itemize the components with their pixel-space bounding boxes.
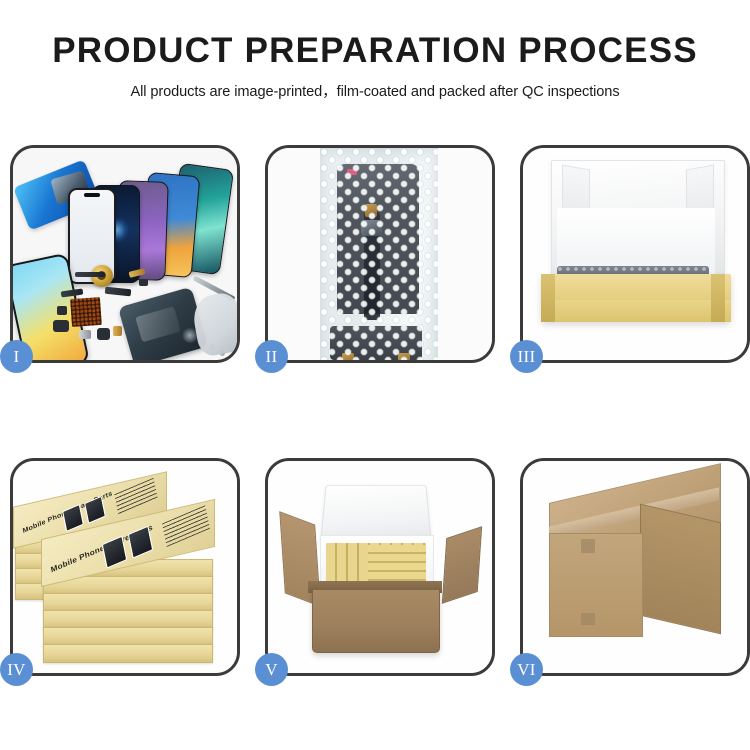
step-badge-3: III [510, 340, 543, 373]
process-step-grid: I II [10, 145, 740, 676]
step-panel-2[interactable]: II [265, 145, 495, 363]
header: PRODUCT PREPARATION PROCESS All products… [0, 0, 750, 101]
step-image-3 [523, 148, 747, 360]
step-image-1 [13, 148, 237, 360]
speaker-part [53, 320, 69, 332]
step-badge-4: IV [0, 653, 33, 686]
copper-mesh-part-icon [70, 297, 102, 327]
box-window-front-a [102, 536, 128, 569]
small-chip-part [139, 279, 148, 286]
phone-notch [84, 193, 100, 197]
box-spec-text-rear [114, 478, 157, 515]
step-badge-5: V [255, 653, 288, 686]
carton-front-face [549, 533, 643, 637]
step-badge-1: I [0, 340, 33, 373]
carton-flap-right [442, 526, 482, 604]
inner-box-end-left [541, 274, 555, 322]
vibrator-part [113, 326, 122, 336]
box-spec-text-front [162, 505, 210, 547]
bubble-wrap-bag [320, 148, 438, 360]
page-title: PRODUCT PREPARATION PROCESS [0, 33, 750, 70]
box-window-rear-a [62, 504, 84, 532]
camera-module-part [97, 328, 110, 340]
stacked-box-front-6 [43, 644, 213, 663]
inner-box-end-right [711, 274, 725, 322]
carton-seam-top [581, 539, 595, 553]
page-subtitle: All products are image-printed，film-coat… [0, 80, 750, 101]
step-panel-3[interactable]: III [520, 145, 750, 363]
carton-seam-bottom [581, 613, 595, 625]
bubble-texture [320, 148, 438, 360]
inner-boxes-row-b [368, 545, 426, 583]
step-image-6 [523, 461, 747, 673]
step-panel-4[interactable]: Mobile Phone Spare Parts Mobile Phone Sp… [10, 458, 240, 676]
step-image-4: Mobile Phone Spare Parts Mobile Phone Sp… [13, 461, 237, 673]
step-image-2 [268, 148, 492, 360]
step-image-5 [268, 461, 492, 673]
step-panel-5[interactable]: V [265, 458, 495, 676]
flex-cable-part [75, 272, 105, 277]
step-panel-1[interactable]: I [10, 145, 240, 363]
sim-tray-part [79, 330, 91, 339]
antenna-flex-part [105, 287, 132, 297]
button-part [57, 306, 67, 315]
phone-parts-scene [13, 148, 237, 360]
inner-box-front-panel [541, 300, 731, 322]
carton-right-face [640, 504, 721, 635]
step-badge-6: VI [510, 653, 543, 686]
step-panel-6[interactable]: VI [520, 458, 750, 676]
step-badge-2: II [255, 340, 288, 373]
carton-body [312, 589, 440, 653]
